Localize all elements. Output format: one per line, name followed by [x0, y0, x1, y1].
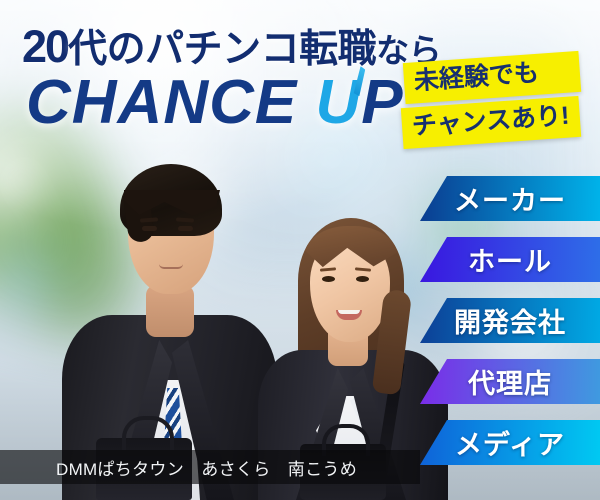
- woman-eye-left: [322, 276, 335, 282]
- category-chip-media[interactable]: メディア: [420, 420, 600, 465]
- caption-text: DMMぱちタウン あさくら 南こうめ: [0, 455, 357, 480]
- promo-badge-chance-available: チャンスあり!: [401, 96, 581, 149]
- chip-label-maker: メーカー: [454, 179, 566, 218]
- chip-label-media: メディア: [455, 423, 565, 462]
- promo-badge-group: 未経験でも チャンスあり!: [404, 57, 580, 143]
- man-mouth: [159, 264, 183, 269]
- category-chip-hall[interactable]: ホール: [420, 237, 600, 282]
- headline-main: 代のパチンコ転職: [68, 28, 376, 71]
- caption-bar: DMMぱちタウン あさくら 南こうめ: [0, 450, 420, 484]
- category-chip-developer[interactable]: 開発会社: [420, 298, 600, 343]
- headline-age-number: 20: [22, 21, 68, 72]
- category-chip-agency[interactable]: 代理店: [420, 359, 600, 404]
- woman-eye-right: [356, 276, 369, 282]
- recruitment-banner: 20代のパチンコ転職なら CHANCE UP 未経験でも チャンスあり! メーカ…: [0, 0, 600, 500]
- category-chip-list: メーカー ホール 開発会社 代理店 メディア: [420, 176, 600, 465]
- man-eye-right: [178, 226, 193, 231]
- chip-label-agency: 代理店: [468, 362, 552, 401]
- promo-badge-no-experience: 未経験でも: [403, 51, 581, 104]
- logo-word-chance: CHANCE: [26, 68, 315, 137]
- category-chip-maker[interactable]: メーカー: [420, 176, 600, 221]
- chip-label-developer: 開発会社: [454, 301, 566, 340]
- chip-label-hall: ホール: [468, 240, 552, 279]
- logo-letter-p: P: [361, 68, 403, 137]
- page-title: 20代のパチンコ転職なら: [22, 18, 441, 74]
- man-eye-left: [142, 226, 157, 231]
- brand-logo: CHANCE UP: [26, 72, 404, 134]
- logo-letter-u-arrow: U: [315, 72, 361, 134]
